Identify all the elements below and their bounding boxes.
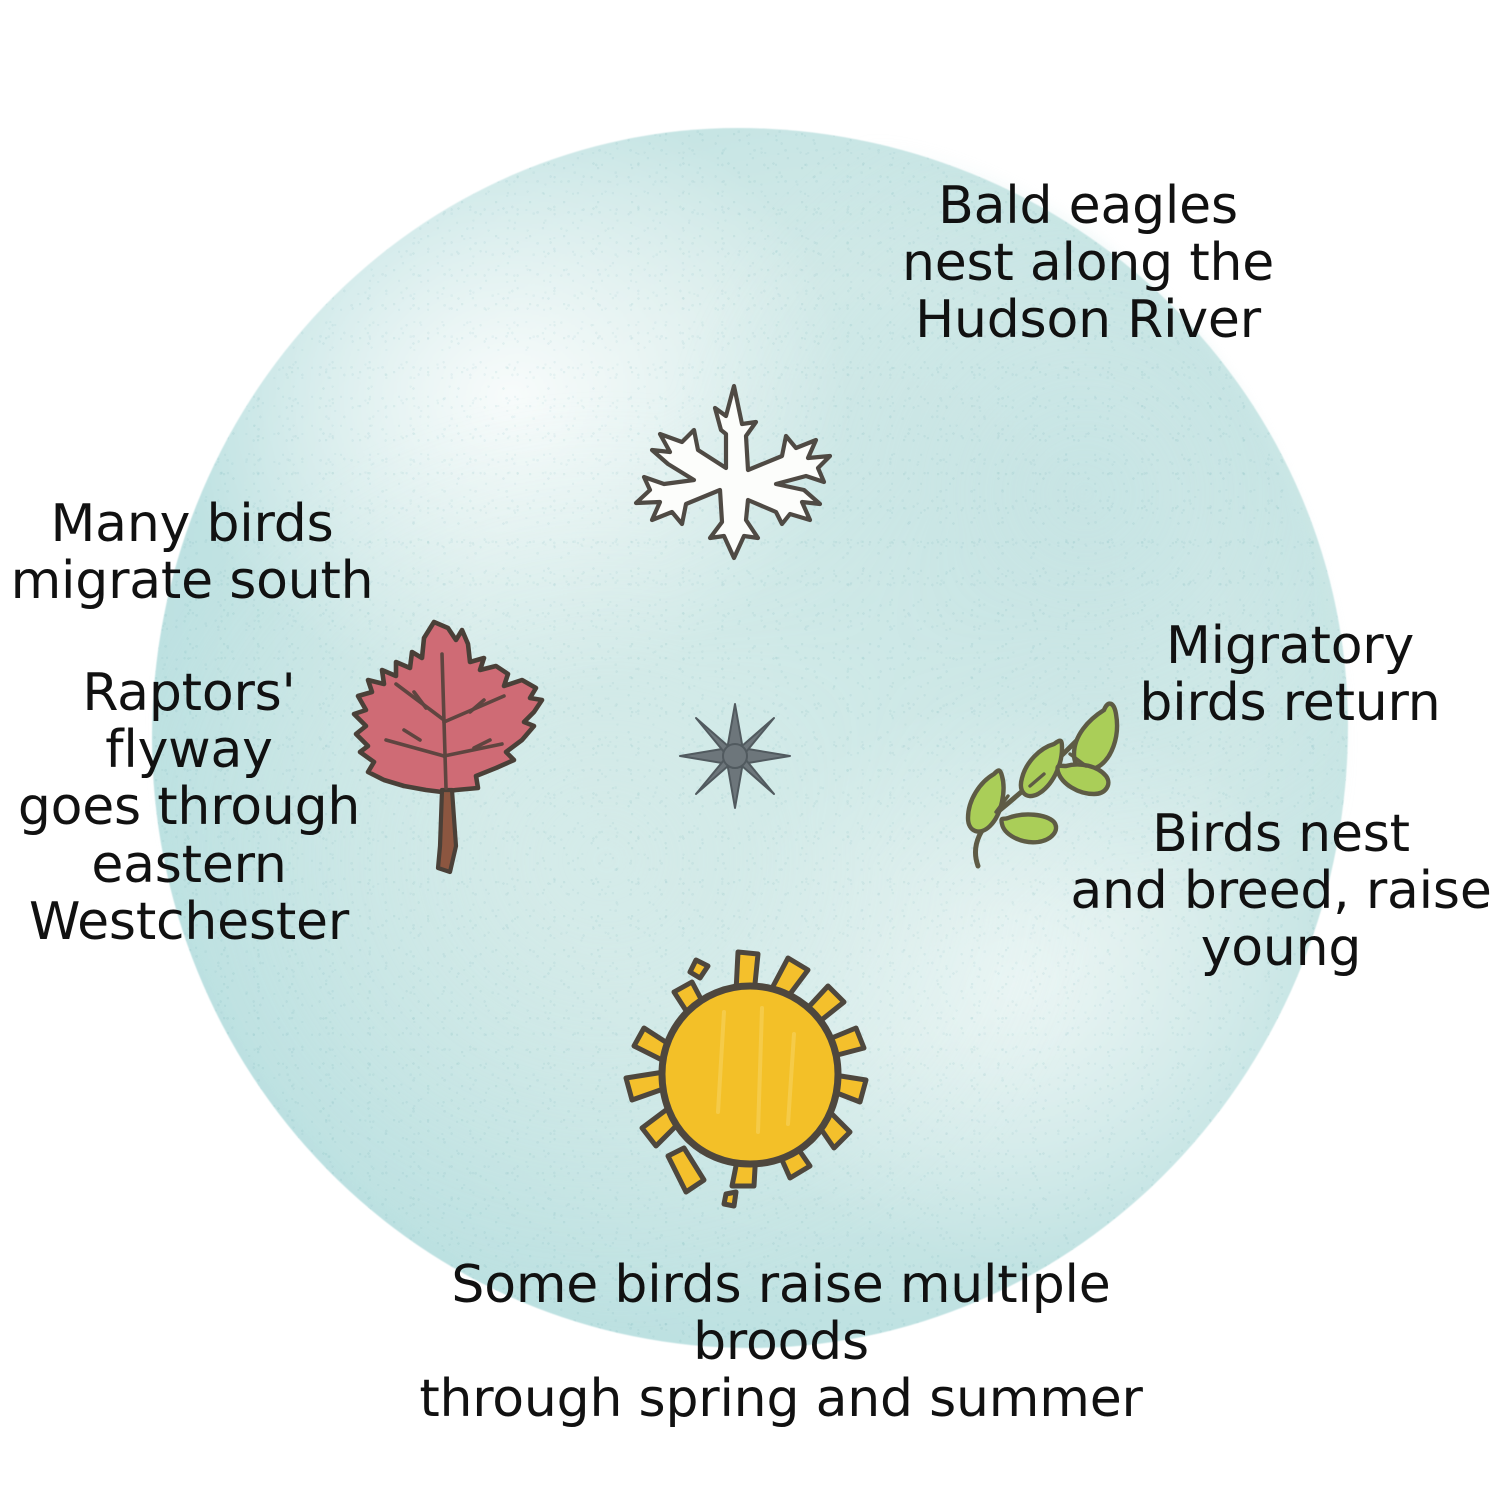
star-burst-icon <box>676 700 794 812</box>
callout-many-birds-migrate-south: Many birds migrate south <box>2 496 382 610</box>
callout-multiple-broods: Some birds raise multiple broods through… <box>370 1257 1192 1429</box>
sun-icon <box>612 942 888 1214</box>
callout-migratory-birds-return: Migratory birds return <box>1090 618 1490 732</box>
callout-bald-eagles: Bald eagles nest along the Hudson River <box>888 178 1288 350</box>
callout-birds-nest-and-breed: Birds nest and breed, raise young <box>1062 806 1500 978</box>
callout-raptors-flyway: Raptors' flyway goes through eastern Wes… <box>0 665 378 951</box>
snowflake-icon <box>622 372 846 596</box>
figure-canvas: Bald eagles nest along the Hudson River … <box>0 0 1500 1500</box>
